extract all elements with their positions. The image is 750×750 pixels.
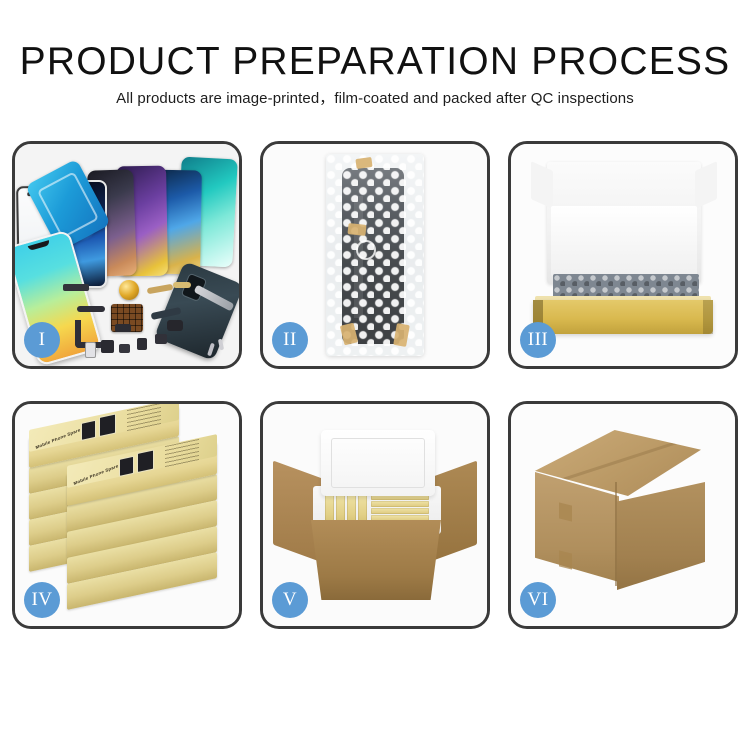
process-step-panel-3: III [508, 141, 738, 369]
flex-cable-gold-2 [173, 282, 191, 288]
tape-strip-middle [347, 223, 366, 236]
process-step-panel-6: VI [508, 401, 738, 629]
box-art-phone-front-2 [137, 449, 154, 473]
gold-coil-part [119, 280, 139, 300]
small-component-5 [115, 324, 131, 332]
step-badge-3: III [520, 322, 556, 358]
step-badge-1: I [24, 322, 60, 358]
camera-module-part [167, 320, 183, 331]
small-component-4 [155, 334, 167, 344]
sim-tray-part [85, 342, 96, 358]
screw-2 [218, 339, 224, 351]
product-preparation-infographic: PRODUCT PREPARATION PROCESS All products… [0, 0, 750, 750]
page-title: PRODUCT PREPARATION PROCESS [0, 40, 750, 84]
flex-cable-1 [77, 306, 105, 312]
small-component-1 [101, 340, 114, 353]
sealed-carton [529, 430, 719, 596]
page-subtitle: All products are image-printed，film-coat… [0, 89, 750, 109]
small-component-2 [119, 344, 130, 353]
step-badge-4: IV [24, 582, 60, 618]
foam-inner-pad [551, 206, 697, 276]
open-tray-assembly [527, 162, 719, 332]
yellow-kraft-tray [533, 300, 713, 334]
process-step-panel-5: V [260, 401, 490, 629]
box-art-phone-rear-2 [99, 413, 116, 437]
bubble-highlight-ring [356, 240, 376, 260]
small-component-3 [137, 338, 147, 350]
process-step-grid: I II [12, 141, 738, 686]
box-art-phone-front-1 [119, 456, 134, 477]
box-art-phone-rear-1 [81, 420, 96, 441]
open-carton-assembly [273, 424, 477, 604]
process-step-panel-4: Mobile Phone Spare Parts Mobile Phone Sp… [12, 401, 242, 629]
foam-lid-open [321, 430, 435, 496]
process-step-panel-1: I [12, 141, 242, 369]
carton-tape-lower [559, 550, 572, 569]
retail-box-flat-3 [371, 508, 429, 514]
carton-corner-seam [615, 482, 617, 586]
flex-cable-gold-1 [147, 284, 174, 294]
step-badge-5: V [272, 582, 308, 618]
carton-body [311, 520, 441, 600]
step-badge-2: II [272, 322, 308, 358]
carton-side-face [617, 482, 705, 590]
bubble-wrap-package [326, 154, 424, 356]
connector-bar [63, 284, 89, 291]
process-step-panel-2: II [260, 141, 490, 369]
carton-tape-upper [559, 502, 572, 521]
retail-box-flat-2 [371, 501, 429, 507]
header: PRODUCT PREPARATION PROCESS All products… [0, 0, 750, 125]
step-badge-6: VI [520, 582, 556, 618]
